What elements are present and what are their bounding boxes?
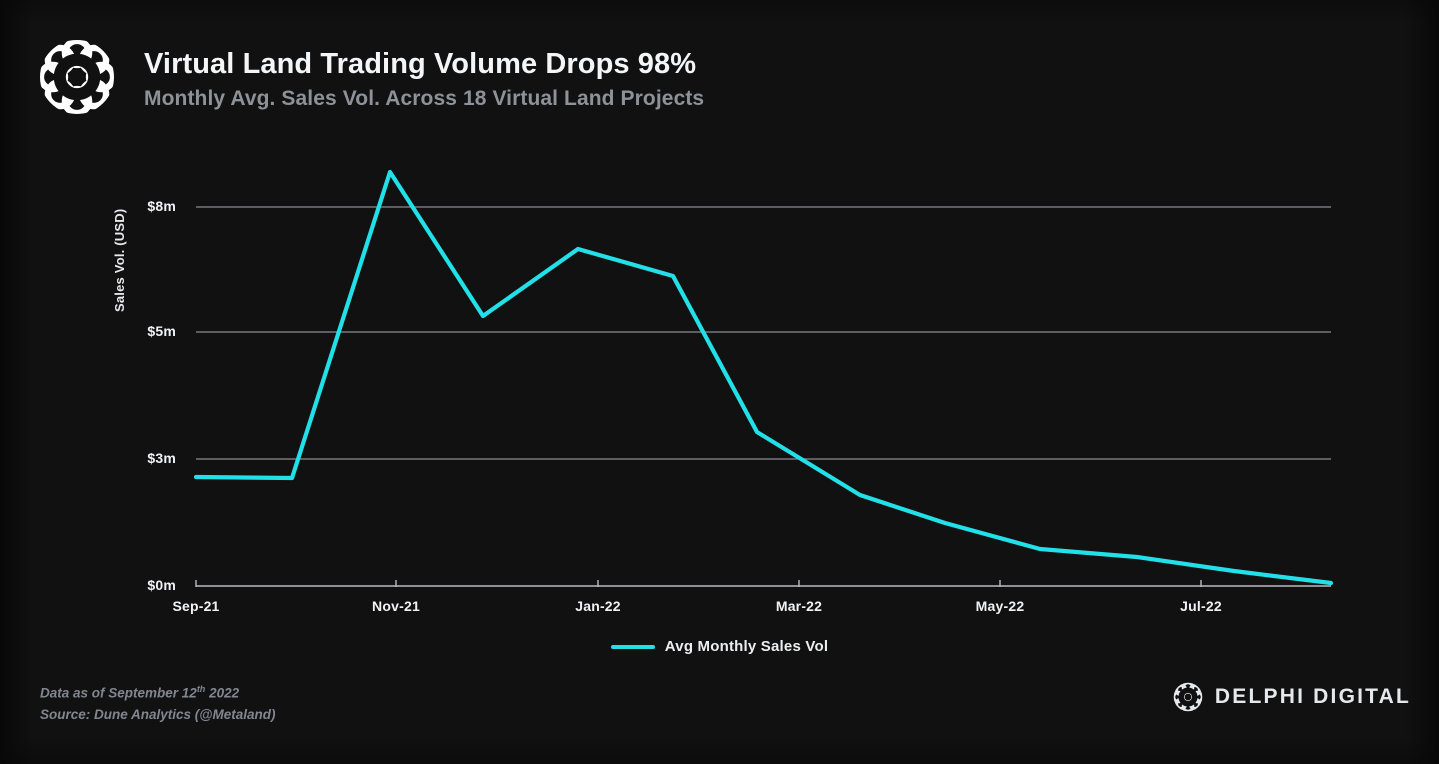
page-subtitle: Monthly Avg. Sales Vol. Across 18 Virtua… [144,86,704,111]
x-axis-tick-labels: Sep-21Nov-21Jan-22Mar-22May-22Jul-22 [0,598,1439,622]
footer-brand-text: DELPHI DIGITAL [1215,685,1411,709]
x-axis-tick-label: Nov-21 [372,598,420,614]
y-axis-tick-label: $8m [106,198,176,214]
x-axis-tick-label: Jul-22 [1180,598,1222,614]
y-axis-tick-label: $0m [106,577,176,593]
footer-brand: DELPHI DIGITAL [1171,680,1411,714]
data-as-of-suffix: 2022 [205,686,239,701]
footnote-block: Data as of September 12th 2022 Source: D… [40,682,275,726]
delphi-knot-logo-icon [1171,680,1205,714]
series-line-avg-monthly-sales-vol [196,172,1331,583]
chart-legend[interactable]: Avg Monthly Sales Vol [0,638,1439,655]
source-line: Source: Dune Analytics (@Metaland) [40,704,275,726]
y-axis-tick-label: $3m [106,450,176,466]
gridlines [196,207,1331,586]
header-text-block: Virtual Land Trading Volume Drops 98% Mo… [144,34,704,112]
x-axis-tick-label: May-22 [976,598,1025,614]
x-axis-tick-label: Jan-22 [575,598,621,614]
x-axis-tick-label: Sep-21 [172,598,219,614]
chart-canvas: Virtual Land Trading Volume Drops 98% Mo… [0,0,1439,764]
y-axis-tick-label: $5m [106,323,176,339]
data-as-of-line: Data as of September 12th 2022 [40,682,275,704]
data-as-of-prefix: Data as of September 12 [40,686,197,701]
legend-swatch-icon [611,645,655,649]
page-title: Virtual Land Trading Volume Drops 98% [144,48,704,80]
legend-item-label: Avg Monthly Sales Vol [665,638,828,655]
x-axis-tick-label: Mar-22 [776,598,822,614]
